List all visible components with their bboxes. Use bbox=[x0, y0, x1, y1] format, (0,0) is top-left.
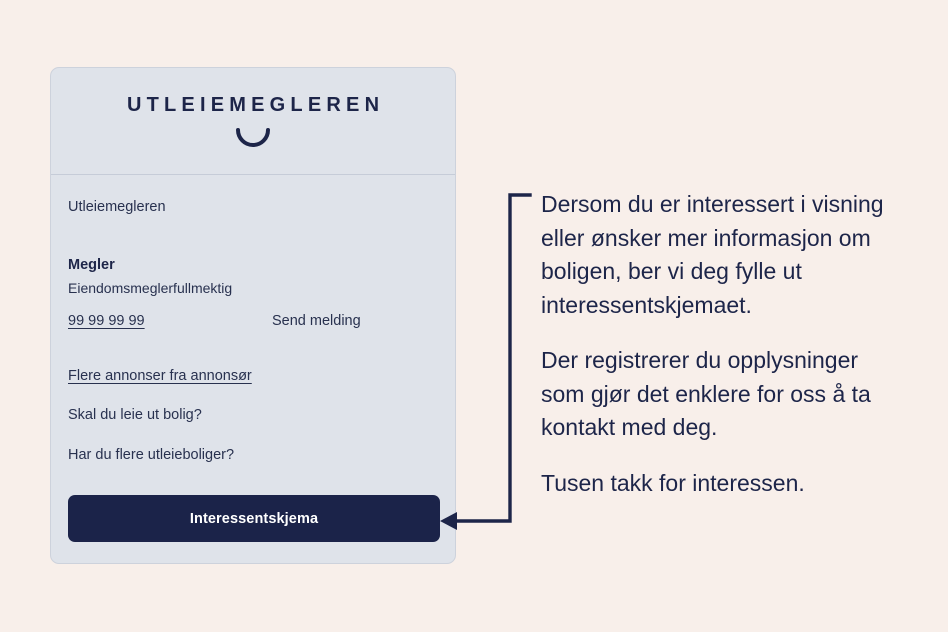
agent-role-subtitle: Eiendomsmeglerfullmektig bbox=[68, 280, 232, 296]
annotation-text-block: Dersom du er interessert i visning eller… bbox=[541, 188, 906, 500]
company-logo-wordmark: UTLEIEMEGLEREN bbox=[51, 94, 455, 117]
card-body: Utleiemegleren Megler Eiendomsmeglerfull… bbox=[51, 175, 455, 563]
annotation-paragraph-1: Dersom du er interessert i visning eller… bbox=[541, 188, 906, 322]
more-rental-properties-link[interactable]: Har du flere utleieboliger? bbox=[68, 447, 234, 463]
interest-form-button[interactable]: Interessentskjema bbox=[68, 495, 440, 542]
smile-arc-icon bbox=[51, 128, 455, 150]
send-message-link[interactable]: Send melding bbox=[272, 313, 361, 329]
card-header: UTLEIEMEGLEREN bbox=[51, 68, 455, 175]
agent-phone-link[interactable]: 99 99 99 99 bbox=[68, 313, 145, 329]
annotation-paragraph-2: Der registrerer du opplysninger som gjør… bbox=[541, 344, 906, 445]
company-name: Utleiemegleren bbox=[68, 199, 166, 215]
agent-contact-card: UTLEIEMEGLEREN Utleiemegleren Megler Eie… bbox=[50, 67, 456, 564]
agent-role-title: Megler bbox=[68, 257, 115, 273]
annotation-paragraph-3: Tusen takk for interessen. bbox=[541, 467, 906, 501]
more-ads-from-advertiser-link[interactable]: Flere annonser fra annonsør bbox=[68, 368, 252, 384]
rent-out-property-link[interactable]: Skal du leie ut bolig? bbox=[68, 407, 202, 423]
